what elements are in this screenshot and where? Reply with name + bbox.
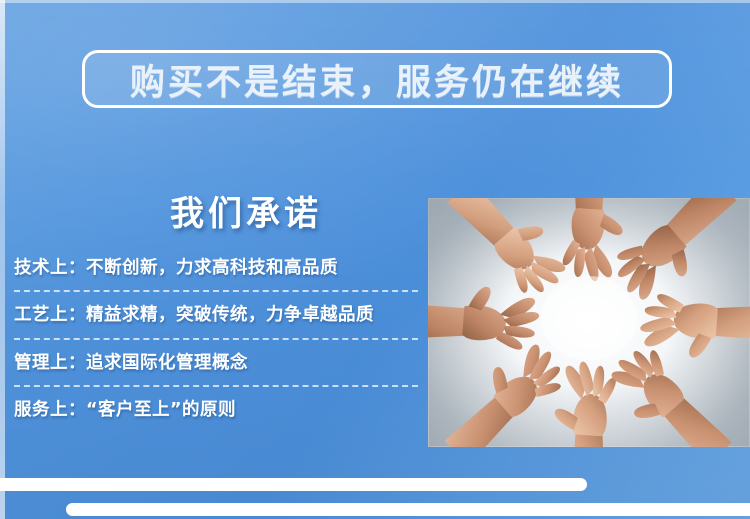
- bottom-bar-lower: [66, 503, 750, 516]
- promise-divider: [14, 338, 418, 340]
- promise-item-text: 技术上：不断创新，力求高科技和高品质: [14, 255, 418, 281]
- bottom-bar-upper: [0, 478, 587, 491]
- promise-list: 技术上：不断创新，力求高科技和高品质 工艺上：精益求精，突破传统，力争卓越品质 …: [14, 255, 418, 434]
- promise-divider: [14, 385, 418, 387]
- promise-item-text: 服务上：“客户至上”的原则: [14, 397, 418, 423]
- promise-item: 服务上：“客户至上”的原则: [14, 397, 418, 434]
- promise-item: 管理上：追求国际化管理概念: [14, 350, 418, 387]
- promise-item-text: 管理上：追求国际化管理概念: [14, 350, 418, 376]
- headline-pill: 购买不是结束，服务仍在继续: [82, 50, 672, 108]
- headline-text: 购买不是结束，服务仍在继续: [130, 54, 624, 105]
- promise-divider: [14, 290, 418, 292]
- section-title: 我们承诺: [14, 186, 418, 235]
- hands-illustration: [428, 198, 750, 447]
- hands-circle-photo: [428, 198, 750, 447]
- promise-item: 工艺上：精益求精，突破传统，力争卓越品质: [14, 302, 418, 339]
- top-edge-trim: [0, 0, 750, 3]
- promise-banner: 购买不是结束，服务仍在继续 我们承诺 技术上：不断创新，力求高科技和高品质 工艺…: [0, 0, 750, 519]
- promise-item-text: 工艺上：精益求精，突破传统，力争卓越品质: [14, 302, 418, 328]
- promise-block: 我们承诺 技术上：不断创新，力求高科技和高品质 工艺上：精益求精，突破传统，力争…: [14, 186, 418, 444]
- left-edge-trim: [0, 0, 5, 519]
- promise-item: 技术上：不断创新，力求高科技和高品质: [14, 255, 418, 292]
